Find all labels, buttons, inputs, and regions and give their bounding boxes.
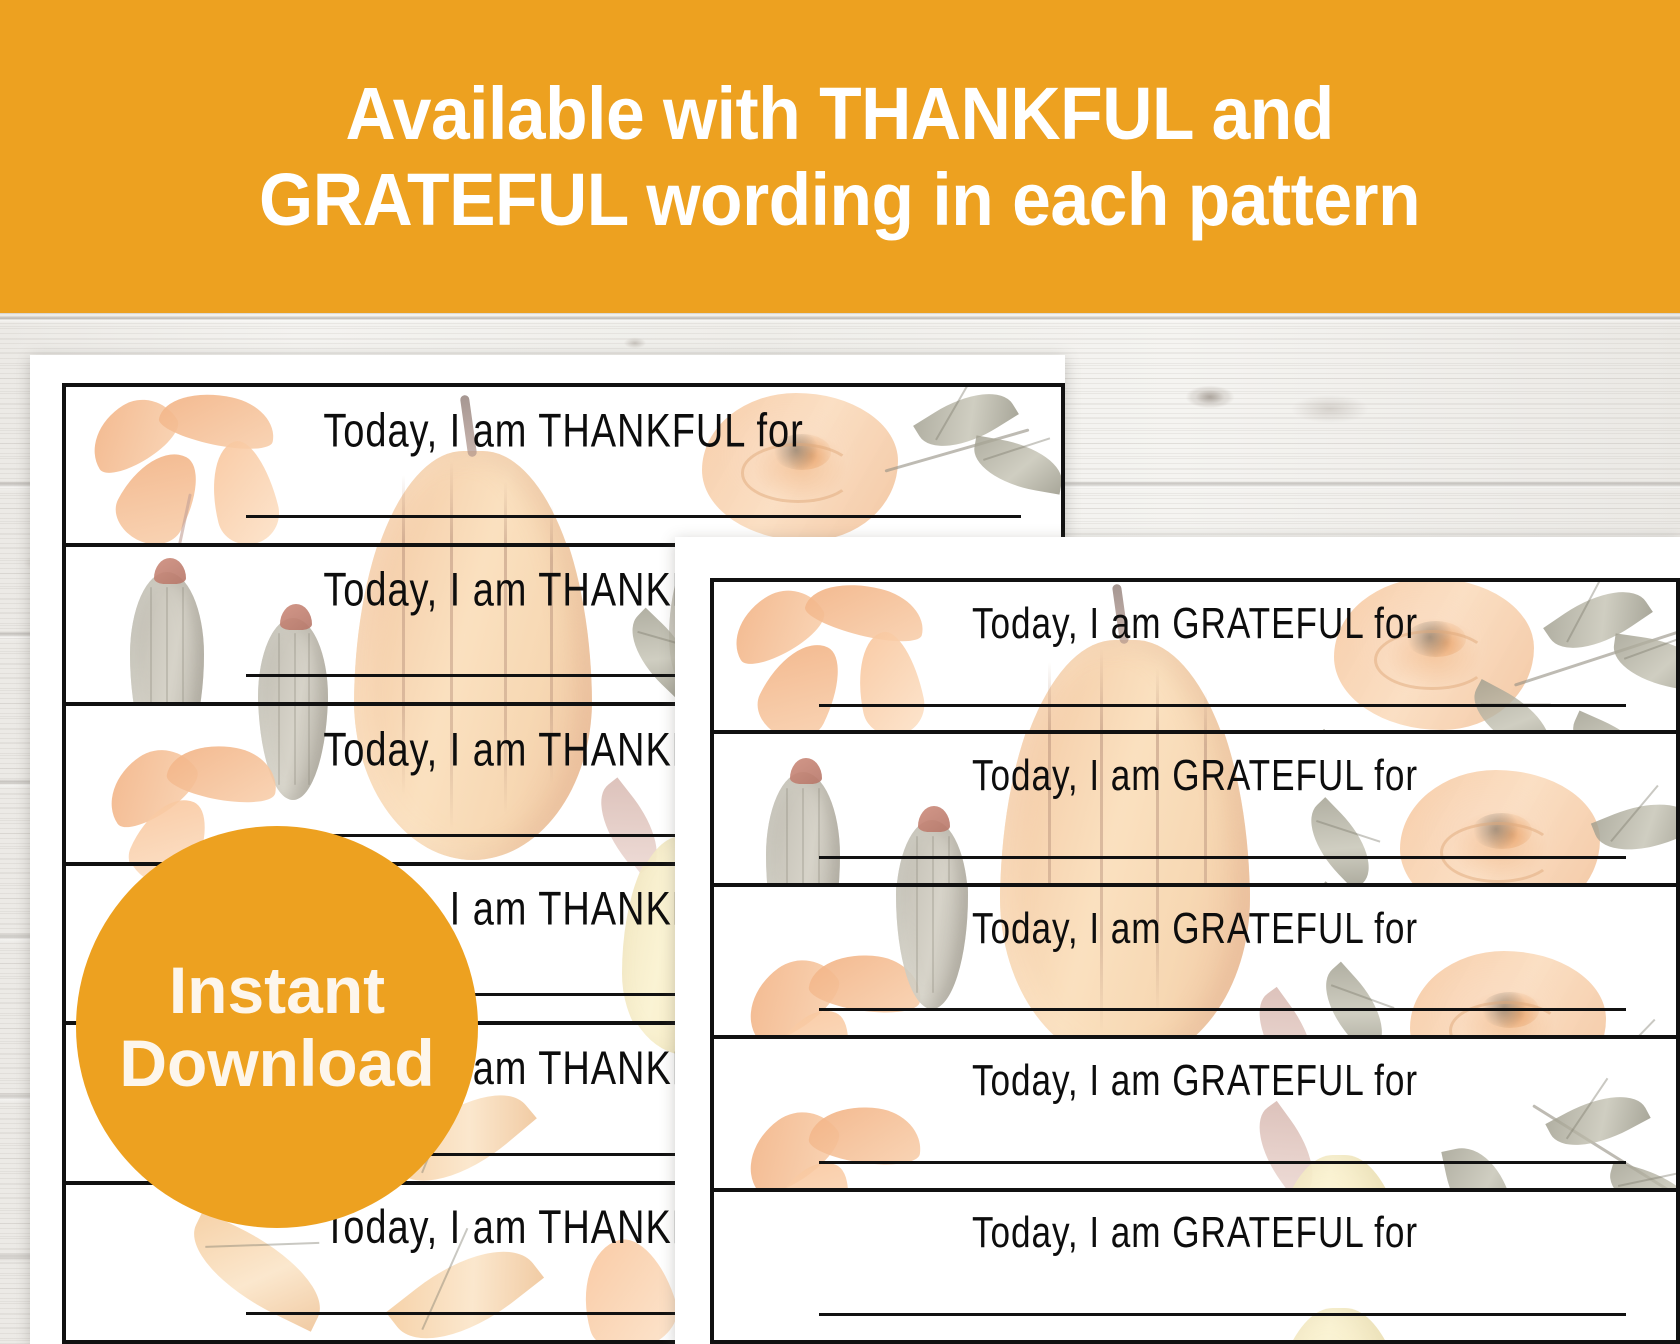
grateful-write-line[interactable] (819, 856, 1626, 859)
grateful-write-line[interactable] (819, 1008, 1626, 1011)
banner-line-1: Available with THANKFUL and (346, 71, 1334, 157)
grateful-prompt: Today, I am GRATEFUL for (738, 904, 1652, 954)
instant-download-badge[interactable]: Instant Download (76, 826, 478, 1228)
badge-line-1: Instant (169, 954, 385, 1027)
promo-banner: Available with THANKFUL and GRATEFUL wor… (0, 0, 1680, 313)
grateful-write-line[interactable] (819, 1161, 1626, 1164)
grateful-strip[interactable]: Today, I am GRATEFUL for (710, 1188, 1680, 1344)
thankful-write-line[interactable] (246, 515, 1021, 518)
grateful-prompt: Today, I am GRATEFUL for (738, 751, 1652, 801)
grateful-sheet: Today, I am GRATEFUL for (675, 537, 1680, 1344)
grateful-strip[interactable]: Today, I am GRATEFUL for (710, 730, 1680, 882)
grateful-strip[interactable]: Today, I am GRATEFUL for (710, 1035, 1680, 1187)
grateful-prompt: Today, I am GRATEFUL for (738, 1056, 1652, 1106)
grateful-prompt: Today, I am GRATEFUL for (738, 599, 1652, 649)
grateful-printable-card[interactable]: Today, I am GRATEFUL for (675, 537, 1680, 1344)
grateful-strip[interactable]: Today, I am GRATEFUL for (710, 883, 1680, 1035)
banner-line-2: GRATEFUL wording in each pattern (259, 157, 1420, 243)
grateful-prompt: Today, I am GRATEFUL for (738, 1209, 1652, 1259)
badge-line-2: Download (119, 1027, 434, 1100)
grateful-write-line[interactable] (819, 1313, 1626, 1316)
thankful-prompt: Today, I am THANKFUL for (91, 405, 1036, 458)
grateful-write-line[interactable] (819, 704, 1626, 707)
thankful-strip[interactable]: Today, I am THANKFUL for (62, 383, 1065, 543)
grateful-strip-list: Today, I am GRATEFUL for (710, 578, 1680, 1344)
grateful-strip[interactable]: Today, I am GRATEFUL for (710, 578, 1680, 730)
